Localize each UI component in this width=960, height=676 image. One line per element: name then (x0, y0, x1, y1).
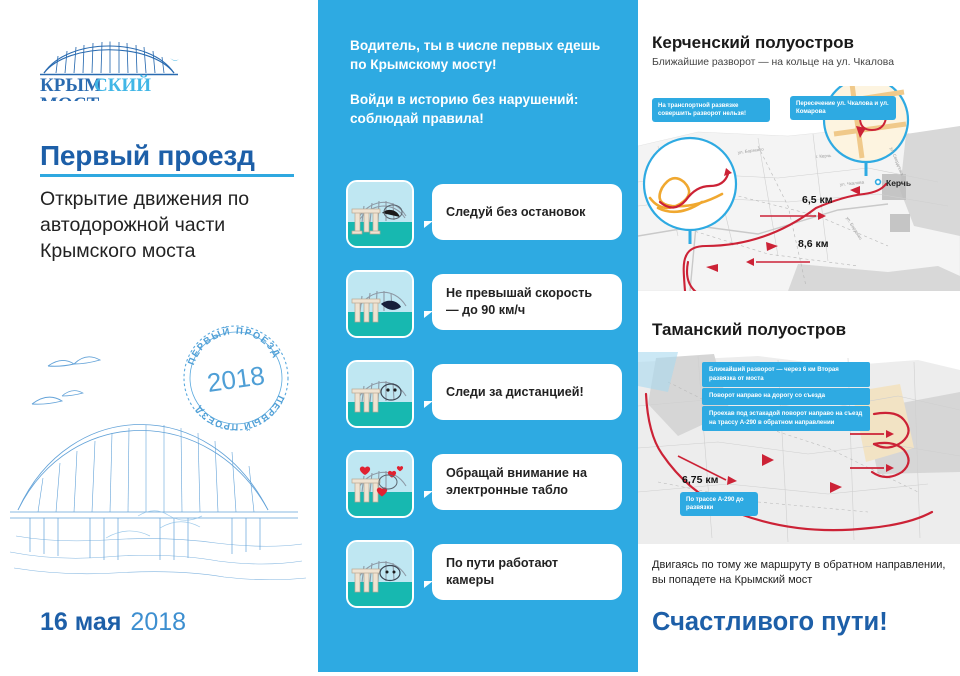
kerch-distance-1: 6,5 км (802, 194, 833, 206)
bridge-cameras-icon (346, 540, 414, 608)
logo-word-most: МОСТ (40, 94, 100, 101)
stamp-year: 2018 (205, 360, 266, 398)
rule-bubble: Следи за дистанцией! (432, 364, 622, 420)
bridge-no-stop-icon (346, 180, 414, 248)
rule-bubble: Обращай внимание на электронные табло (432, 454, 622, 510)
bridge-speed-limit-icon (346, 270, 414, 338)
taman-note-2: Поворот направо на дорогу со съезда (702, 388, 870, 405)
kerch-callout-right: Пересечение ул. Чкалова и ул. Комарова (790, 96, 896, 120)
title-underline (40, 174, 294, 177)
poster-page: КРЫМ СКИЙ МОСТ Первый проезд Открытие дв… (0, 0, 960, 676)
left-column: КРЫМ СКИЙ МОСТ Первый проезд Открытие дв… (0, 0, 318, 676)
krymskiy-most-logo: КРЫМ СКИЙ МОСТ (38, 33, 198, 101)
rule-text: Не превышай скорость — до 90 км/ч (446, 285, 608, 319)
rule-item: Следи за дистанцией! (346, 360, 624, 434)
rule-text: Обращай внимание на электронные табло (446, 465, 608, 499)
stamp-arc-top: ПЕРВЫЙ ПРОЕЗД (186, 325, 282, 367)
taman-route-callout: По трассе А-290 до развязки (680, 492, 758, 516)
rule-bubble: Следуй без остановок (432, 184, 622, 240)
kerch-section-subtitle: Ближайшие разворот — на кольце на ул. Чк… (652, 56, 902, 70)
taman-distance-1: 6,75 км (682, 474, 718, 486)
kerch-city-label: Керчь (886, 178, 911, 188)
closing-note: Двигаясь по тому же маршруту в обратном … (652, 558, 952, 588)
page-subtitle: Открытие движения по автодорожной части … (40, 186, 308, 264)
kerch-section-title: Керченский полуостров (652, 33, 854, 53)
rule-bubble: По пути работают камеры (432, 544, 622, 600)
center-headline-2: Войди в историю без нарушений: соблюдай … (350, 90, 610, 128)
center-headline-1: Водитель, ты в числе первых едешь по Кры… (350, 36, 610, 74)
rule-item: Следуй без остановок (346, 180, 624, 254)
center-panel: Водитель, ты в числе первых едешь по Кры… (318, 0, 638, 672)
rules-list: Следуй без остановок (346, 180, 624, 630)
right-column: Керченский полуостров Ближайшие разворот… (638, 0, 960, 676)
svg-text:ПЕРВЫЙ ПРОЕЗД: ПЕРВЫЙ ПРОЕЗД (192, 394, 286, 432)
kerch-distance-2: 8,6 км (798, 238, 829, 250)
page-title: Первый проезд (40, 140, 310, 172)
publication-date: 16 мая2018 (40, 608, 186, 637)
rule-item: Не превышай скорость — до 90 км/ч (346, 270, 624, 344)
taman-section-title: Таманский полуостров (652, 320, 846, 340)
first-trip-stamp: ПЕРВЫЙ ПРОЕЗД ПЕРВЫЙ ПРОЕЗД 2018 (176, 318, 296, 438)
rule-text: Следи за дистанцией! (446, 384, 584, 401)
logo-word-skiy: СКИЙ (94, 74, 151, 96)
taman-note-1: Ближайший разворот — через 6 км Вторая р… (702, 362, 870, 387)
closing-headline: Счастливого пути! (652, 608, 888, 637)
rule-bubble: Не превышай скорость — до 90 км/ч (432, 274, 622, 330)
bridge-hearts-icon (346, 450, 414, 518)
rule-item: По пути работают камеры (346, 540, 624, 614)
stamp-arc-bottom: ПЕРВЫЙ ПРОЕЗД (192, 394, 286, 432)
rule-text: По пути работают камеры (446, 555, 608, 589)
bridge-distance-icon (346, 360, 414, 428)
date-year: 2018 (130, 608, 186, 636)
rule-item: Обращай внимание на электронные табло (346, 450, 624, 524)
kerch-callout-left: На транспортной развязке совершить разво… (652, 98, 770, 122)
logo-word-krym: КРЫМ (40, 75, 102, 96)
date-day: 16 мая (40, 608, 121, 636)
rule-text: Следуй без остановок (446, 204, 585, 221)
taman-note-3: Проехав под эстакадой поворот направо на… (702, 406, 870, 431)
svg-text:ПЕРВЫЙ ПРОЕЗД: ПЕРВЫЙ ПРОЕЗД (186, 325, 282, 367)
